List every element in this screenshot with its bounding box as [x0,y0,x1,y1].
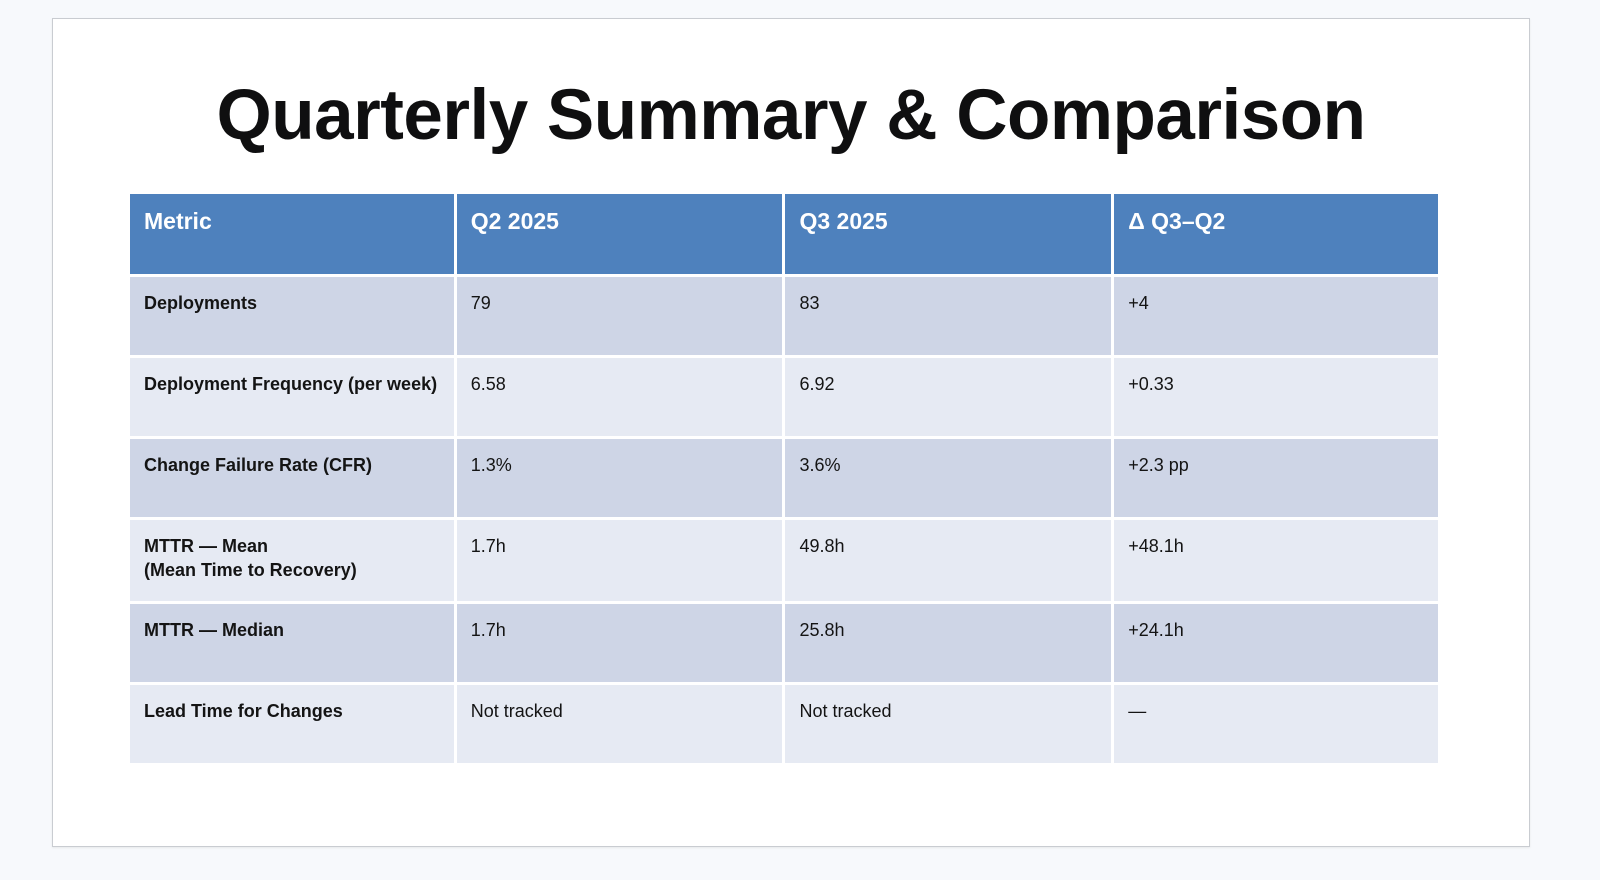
table-header: Metric Q2 2025 Q3 2025 Δ Q3–Q2 [130,194,1438,274]
table-row: Deployment Frequency (per week) 6.58 6.9… [130,358,1438,436]
table-row: MTTR — Median 1.7h 25.8h +24.1h [130,604,1438,682]
cell-metric: Deployments [130,277,454,355]
cell-metric: Change Failure Rate (CFR) [130,439,454,517]
cell-metric: Lead Time for Changes [130,685,454,763]
quarterly-metrics-table: Metric Q2 2025 Q3 2025 Δ Q3–Q2 Deploymen… [127,191,1441,766]
cell-q2: 79 [457,277,783,355]
cell-q2: 1.3% [457,439,783,517]
column-header-delta[interactable]: Δ Q3–Q2 [1114,194,1438,274]
slide-canvas: Quarterly Summary & Comparison Metric Q2… [52,18,1530,847]
cell-delta: +48.1h [1114,520,1438,601]
cell-q2: 1.7h [457,520,783,601]
column-header-q2-2025[interactable]: Q2 2025 [457,194,783,274]
table-row: MTTR — Mean (Mean Time to Recovery) 1.7h… [130,520,1438,601]
cell-metric: MTTR — Median [130,604,454,682]
cell-q3: 83 [785,277,1111,355]
table-header-row: Metric Q2 2025 Q3 2025 Δ Q3–Q2 [130,194,1438,274]
cell-q3: 3.6% [785,439,1111,517]
page-title: Quarterly Summary & Comparison [53,79,1529,154]
table-body: Deployments 79 83 +4 Deployment Frequenc… [130,277,1438,763]
column-header-metric[interactable]: Metric [130,194,454,274]
table-row: Change Failure Rate (CFR) 1.3% 3.6% +2.3… [130,439,1438,517]
table-row: Lead Time for Changes Not tracked Not tr… [130,685,1438,763]
cell-q3: 6.92 [785,358,1111,436]
cell-delta: +2.3 pp [1114,439,1438,517]
cell-q2: 6.58 [457,358,783,436]
cell-delta: +0.33 [1114,358,1438,436]
column-header-q3-2025[interactable]: Q3 2025 [785,194,1111,274]
cell-delta: — [1114,685,1438,763]
cell-delta: +4 [1114,277,1438,355]
table-row: Deployments 79 83 +4 [130,277,1438,355]
cell-q2: Not tracked [457,685,783,763]
cell-metric: MTTR — Mean (Mean Time to Recovery) [130,520,454,601]
cell-metric: Deployment Frequency (per week) [130,358,454,436]
cell-q2: 1.7h [457,604,783,682]
cell-q3: 25.8h [785,604,1111,682]
cell-q3: Not tracked [785,685,1111,763]
cell-q3: 49.8h [785,520,1111,601]
cell-delta: +24.1h [1114,604,1438,682]
